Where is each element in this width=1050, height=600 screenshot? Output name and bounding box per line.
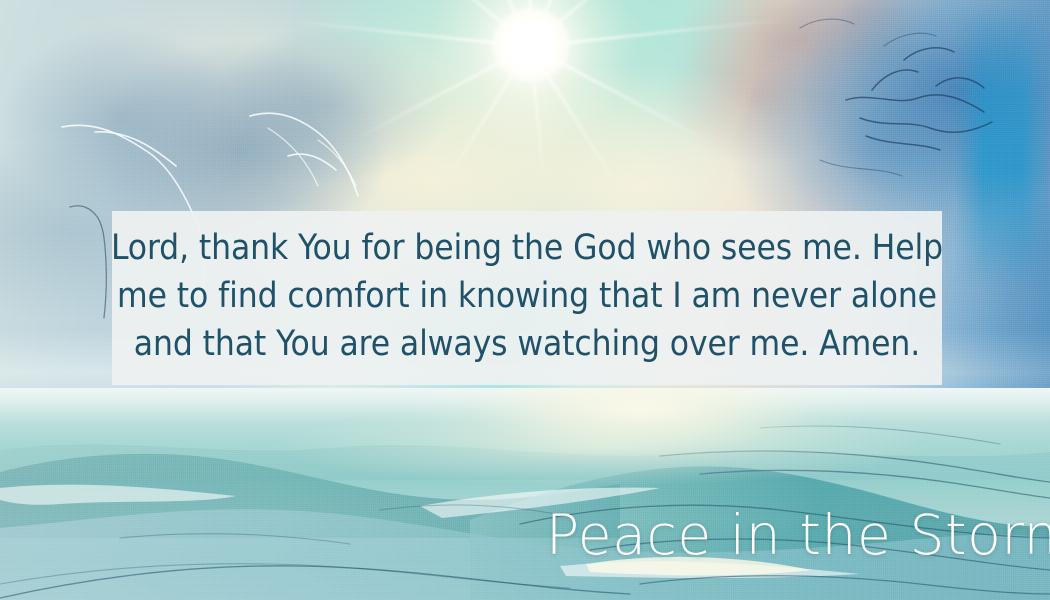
storm-drip-streak [955, 0, 1050, 400]
prayer-line-3: and that You are always watching over me… [134, 320, 920, 368]
sea-background [0, 388, 1050, 600]
sun-reflection-on-water [0, 388, 1050, 508]
prayer-card-poster: Lord, thank You for being the God who se… [0, 0, 1050, 600]
page-title: Peace in the Storm [546, 503, 1050, 567]
prayer-line-1: Lord, thank You for being the God who se… [111, 224, 943, 272]
prayer-line-2: me to find comfort in knowing that I am … [117, 272, 937, 320]
prayer-text-panel: Lord, thank You for being the God who se… [112, 211, 942, 385]
